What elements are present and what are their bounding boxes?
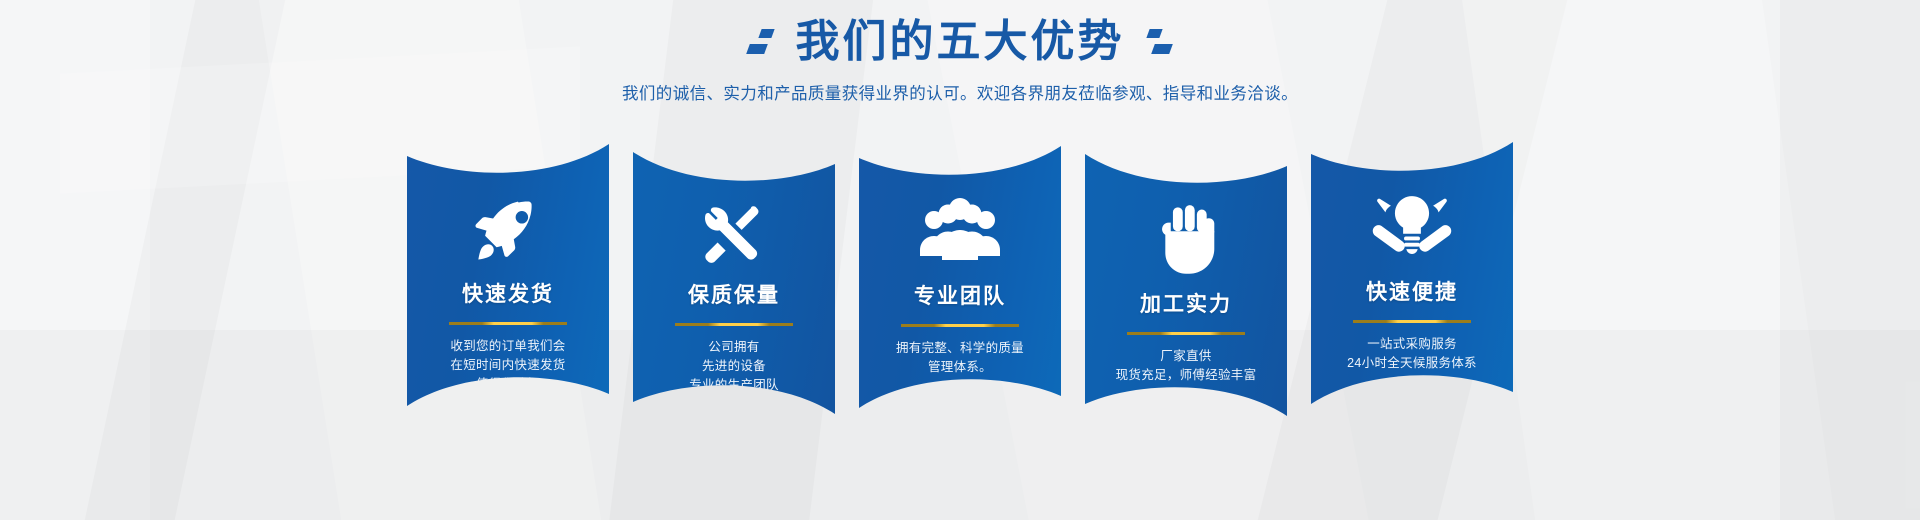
card-description: 拥有完整、科学的质量 管理体系。	[882, 339, 1038, 377]
card-title: 加工实力	[1140, 288, 1232, 318]
fist-strength-icon	[1151, 194, 1221, 286]
card-title: 快速便捷	[1366, 276, 1458, 306]
hands-holding-lightbulb-icon	[1371, 182, 1453, 274]
five-advantages-section: 我们的五大优势 我们的诚信、实力和产品质量获得业界的认可。欢迎各界朋友莅临参观、…	[0, 0, 1920, 520]
page-title: 我们的五大优势	[796, 18, 1125, 66]
advantage-card-1[interactable]: 快速发货 收到您的订单我们会 在短时间内快速发货 值得您选择	[407, 144, 609, 406]
card-description: 公司拥有 先进的设备 专业的生产团队 专业的技术工人	[675, 338, 793, 414]
card-title: 快速发货	[462, 278, 554, 308]
card-description: 收到您的订单我们会 在短时间内快速发货 值得您选择	[436, 337, 579, 394]
team-people-group-icon	[918, 186, 1002, 278]
section-header: 我们的五大优势 我们的诚信、实力和产品质量获得业界的认可。欢迎各界朋友莅临参观、…	[0, 0, 1920, 104]
diagonal-slash-mark-icon-right	[1143, 27, 1177, 57]
section-subtitle: 我们的诚信、实力和产品质量获得业界的认可。欢迎各界朋友莅临参观、指导和业务洽谈。	[0, 80, 1920, 104]
rocket-icon	[471, 184, 545, 276]
gold-divider	[449, 322, 567, 325]
advantage-card-5[interactable]: 快速便捷 一站式采购服务 24小时全天候服务体系	[1311, 142, 1513, 404]
gold-divider	[1353, 320, 1471, 323]
gold-divider	[1127, 332, 1245, 335]
gold-divider	[675, 323, 793, 326]
card-description: 厂家直供 现货充足，师傅经验丰富	[1102, 347, 1271, 385]
advantage-card-4[interactable]: 加工实力 厂家直供 现货充足，师傅经验丰富	[1085, 154, 1287, 416]
advantage-card-3[interactable]: 专业团队 拥有完整、科学的质量 管理体系。	[859, 146, 1061, 408]
gold-divider	[901, 324, 1019, 327]
card-title: 专业团队	[914, 280, 1006, 310]
card-title: 保质保量	[688, 279, 780, 309]
advantage-card-list: 快速发货 收到您的订单我们会 在短时间内快速发货 值得您选择	[0, 140, 1920, 416]
advantage-card-2[interactable]: 保质保量 公司拥有 先进的设备 专业的生产团队 专业的技术工人	[633, 152, 835, 414]
card-description: 一站式采购服务 24小时全天候服务体系	[1333, 335, 1491, 373]
title-row: 我们的五大优势	[0, 18, 1920, 66]
tools-wrench-screwdriver-icon	[697, 192, 771, 277]
diagonal-slash-mark-icon-left	[744, 27, 778, 57]
